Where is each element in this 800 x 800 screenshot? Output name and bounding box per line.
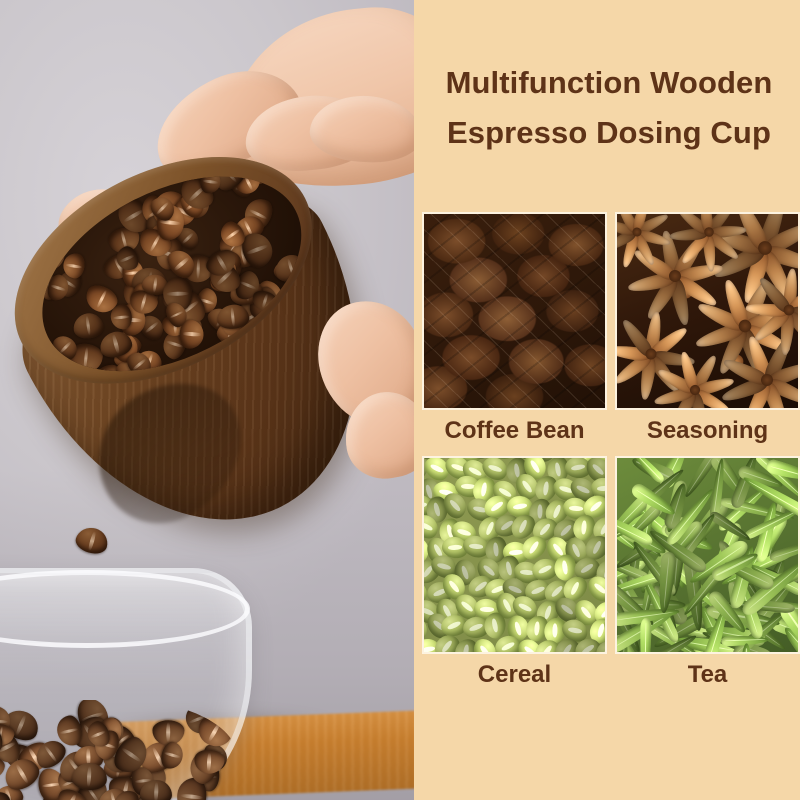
use-case-thumbnail xyxy=(422,456,607,654)
mung-bean-texture xyxy=(424,458,605,652)
product-title: Multifunction Wooden Espresso Dosing Cup xyxy=(422,0,794,158)
mung-bean xyxy=(458,653,491,654)
mung-bean xyxy=(483,612,506,640)
title-line-2: Espresso Dosing Cup xyxy=(430,108,788,158)
use-case-cereal[interactable]: Cereal xyxy=(422,456,607,696)
use-case-thumbnail xyxy=(615,456,800,654)
use-case-row-top: Coffee Bean Seasoning xyxy=(422,212,800,452)
mung-bean xyxy=(483,652,512,654)
use-case-tea[interactable]: Tea xyxy=(615,456,800,696)
product-listing-image: Multifunction Wooden Espresso Dosing Cup… xyxy=(0,0,800,800)
use-case-thumbnail xyxy=(615,212,800,410)
star-anise-texture xyxy=(617,214,798,408)
use-case-label: Cereal xyxy=(422,654,607,696)
info-panel: Multifunction Wooden Espresso Dosing Cup… xyxy=(414,0,800,800)
use-case-seasoning[interactable]: Seasoning xyxy=(615,212,800,452)
mung-bean xyxy=(525,653,547,654)
coffee-bean xyxy=(152,720,185,746)
tea-leaf xyxy=(640,618,652,654)
coffee-bean-texture xyxy=(424,214,605,408)
tea-leaf-texture xyxy=(617,458,798,652)
coffee-bean xyxy=(72,311,105,340)
use-case-label: Coffee Bean xyxy=(422,410,607,452)
use-case-thumbnail xyxy=(422,212,607,410)
glass-bowl xyxy=(0,568,252,800)
title-line-1: Multifunction Wooden xyxy=(430,58,788,108)
coffee-bean xyxy=(28,239,67,274)
use-case-row-bottom: Cereal Tea xyxy=(422,456,800,696)
hero-product-photo xyxy=(0,0,414,800)
coffee-bean xyxy=(140,780,173,800)
use-case-label: Seasoning xyxy=(615,410,800,452)
glass-bowl-beans xyxy=(0,700,238,800)
use-case-coffee-bean[interactable]: Coffee Bean xyxy=(422,212,607,452)
use-case-label: Tea xyxy=(615,654,800,696)
use-case-grid: Coffee Bean Seasoning Cereal xyxy=(422,212,800,700)
